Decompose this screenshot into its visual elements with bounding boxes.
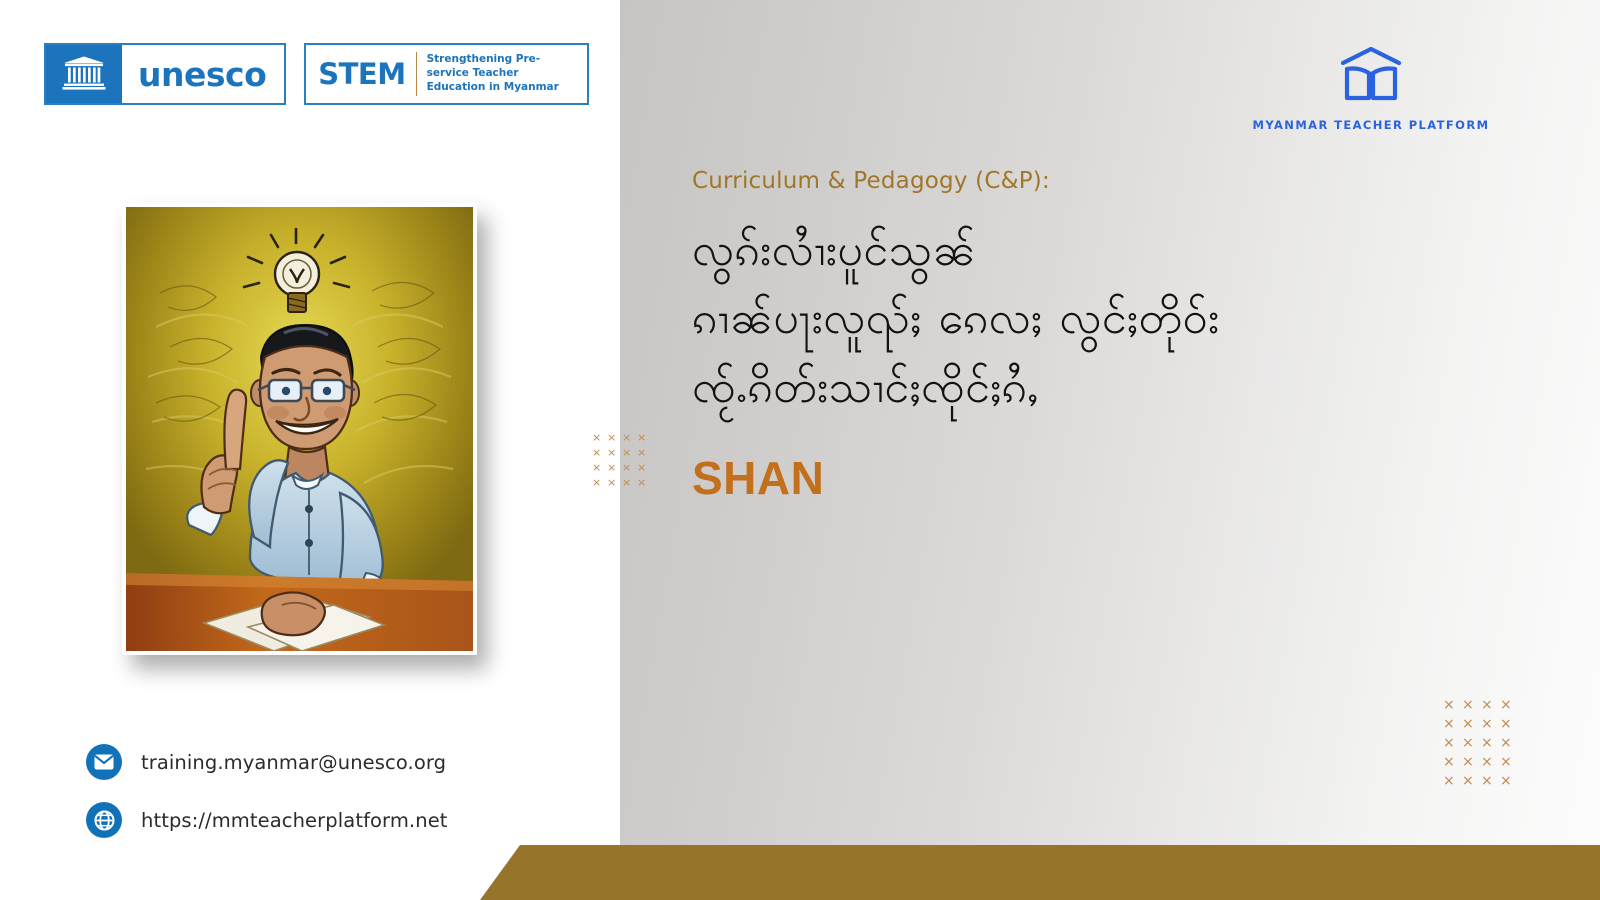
platform-logo: MYANMAR TEACHER PLATFORM xyxy=(1246,46,1496,132)
unesco-temple-icon xyxy=(46,45,122,103)
dot-mark: × xyxy=(607,477,622,492)
dot-mark: × xyxy=(1443,698,1462,717)
stem-divider xyxy=(416,52,417,96)
dot-mark: × xyxy=(1481,717,1500,736)
dot-mark: × xyxy=(1462,736,1481,755)
dot-mark: × xyxy=(607,432,622,447)
dot-mark: × xyxy=(1443,717,1462,736)
dot-mark: × xyxy=(622,432,637,447)
shan-title-line: လွၵ်းလၢႆးပူင်သွၼ် xyxy=(692,220,1532,288)
module-eyebrow: Curriculum & Pedagogy (C&P): xyxy=(692,168,1532,194)
globe-icon xyxy=(86,802,122,838)
dot-mark: × xyxy=(592,462,607,477)
unesco-wordmark: unesco xyxy=(122,58,284,91)
dot-mark: × xyxy=(1462,755,1481,774)
dot-mark: × xyxy=(622,447,637,462)
contact-list: training.myanmar@unesco.org https://mmte… xyxy=(86,744,448,838)
stem-logo: STEM Strengthening Pre-service Teacher E… xyxy=(304,43,588,105)
shan-title: လွၵ်းလၢႆးပူင်သွၼ်ၵၢၼ်ပႃးလူၺ်ႈ ၵေလႈ လွင်ႈ… xyxy=(692,220,1532,425)
dot-mark: × xyxy=(637,462,652,477)
shan-title-line: ၵၢၼ်ပႃးလူၺ်ႈ ၵေလႈ လွင်ႈတိုဝ်း xyxy=(692,288,1532,356)
dot-mark: × xyxy=(1481,755,1500,774)
dot-grid-right: ×××××××××××××××××××× xyxy=(1443,698,1519,793)
dot-mark: × xyxy=(1500,774,1519,793)
dot-mark: × xyxy=(637,432,652,447)
dot-mark: × xyxy=(607,447,622,462)
dot-mark: × xyxy=(1481,774,1500,793)
shan-title-line: ၸႂ်ႉၵိတ်းသၢင်ႈၸိုင်ႈၵႆႇ xyxy=(692,357,1532,425)
dot-mark: × xyxy=(1443,755,1462,774)
dot-mark: × xyxy=(1500,717,1519,736)
slide-canvas: unesco STEM Strengthening Pre-service Te… xyxy=(0,0,1600,900)
contact-email[interactable]: training.myanmar@unesco.org xyxy=(86,744,448,780)
dot-mark: × xyxy=(1462,717,1481,736)
open-book-house-icon xyxy=(1333,46,1409,106)
dot-mark: × xyxy=(1500,698,1519,717)
unesco-logo: unesco xyxy=(44,43,286,105)
dot-mark: × xyxy=(622,462,637,477)
dot-mark: × xyxy=(592,477,607,492)
dot-mark: × xyxy=(637,447,652,462)
dot-mark: × xyxy=(1500,755,1519,774)
dot-mark: × xyxy=(607,462,622,477)
dot-mark: × xyxy=(592,432,607,447)
platform-name: MYANMAR TEACHER PLATFORM xyxy=(1246,118,1496,132)
dot-mark: × xyxy=(1462,698,1481,717)
logo-bar: unesco STEM Strengthening Pre-service Te… xyxy=(44,43,589,105)
dot-grid-left: ×××××××××××××××× xyxy=(592,432,652,492)
dot-mark: × xyxy=(622,477,637,492)
dot-mark: × xyxy=(1443,774,1462,793)
dot-mark: × xyxy=(1481,736,1500,755)
stem-tagline: Strengthening Pre-service Teacher Educat… xyxy=(427,53,577,95)
contact-website-text: https://mmteacherplatform.net xyxy=(141,809,448,832)
teacher-illustration xyxy=(122,203,477,655)
content-block: Curriculum & Pedagogy (C&P): လွၵ်းလၢႆးပူ… xyxy=(692,168,1532,505)
dot-mark: × xyxy=(1443,736,1462,755)
dot-mark: × xyxy=(1481,698,1500,717)
bottom-accent-bar xyxy=(480,845,1600,900)
language-label: SHAN xyxy=(692,451,1532,505)
stem-wordmark: STEM xyxy=(318,57,405,91)
contact-website[interactable]: https://mmteacherplatform.net xyxy=(86,802,448,838)
dot-mark: × xyxy=(592,447,607,462)
envelope-icon xyxy=(86,744,122,780)
dot-mark: × xyxy=(1462,774,1481,793)
dot-mark: × xyxy=(637,477,652,492)
contact-email-text: training.myanmar@unesco.org xyxy=(141,751,446,774)
dot-mark: × xyxy=(1500,736,1519,755)
